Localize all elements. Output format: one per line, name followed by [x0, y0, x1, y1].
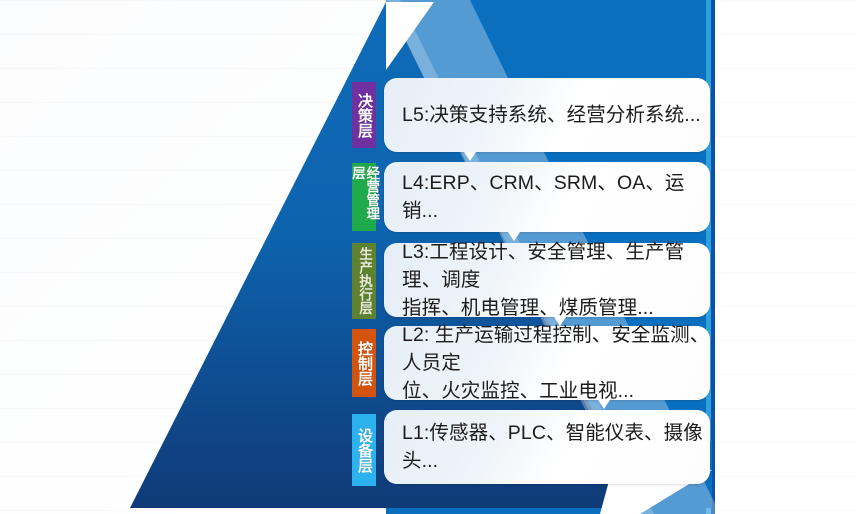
layer-row-l2[interactable]: 控制层	[352, 329, 376, 397]
layer-tab-l5[interactable]: 决策层	[352, 82, 376, 148]
layer-tab-label-l1: 设备层	[356, 428, 372, 473]
layer-card-text-l2: L2: 生产运输过程控制、安全监测、人员定 位、火灾监控、工业电视...	[402, 321, 710, 406]
flow-arrow-l2-l1	[598, 400, 610, 409]
layer-card-l5[interactable]: L5:决策支持系统、经营分析系统...	[384, 78, 710, 152]
layer-tab-l2[interactable]: 控制层	[352, 329, 376, 397]
layer-card-text-l1: L1:传感器、PLC、智能仪表、摄像头...	[402, 419, 710, 476]
layer-card-text-l5: L5:决策支持系统、经营分析系统...	[402, 101, 701, 129]
layer-card-l3[interactable]: L3:工程设计、安全管理、生产管理、调度 指挥、机电管理、煤质管理...	[384, 243, 710, 317]
layer-row-l3[interactable]: 生产执行层	[352, 243, 376, 319]
layer-card-text-l3: L3:工程设计、安全管理、生产管理、调度 指挥、机电管理、煤质管理...	[402, 238, 710, 323]
layer-tab-l3[interactable]: 生产执行层	[352, 243, 376, 319]
layer-row-l1[interactable]: 设备层	[352, 414, 376, 486]
layer-tab-l4[interactable]: 经营管理层	[352, 163, 376, 231]
layer-tab-label-l4: 经营管理层	[350, 166, 379, 228]
layer-card-l4[interactable]: L4:ERP、CRM、SRM、OA、运销...	[384, 162, 710, 232]
layer-row-l4[interactable]: 经营管理层	[352, 163, 376, 231]
diagram-canvas: 决策层 L5:决策支持系统、经营分析系统... 经营管理层 L4:ERP、CRM…	[0, 0, 856, 514]
layer-row-l5[interactable]: 决策层	[352, 82, 376, 148]
layer-card-l1[interactable]: L1:传感器、PLC、智能仪表、摄像头...	[384, 410, 710, 484]
layer-card-l2[interactable]: L2: 生产运输过程控制、安全监测、人员定 位、火灾监控、工业电视...	[384, 326, 710, 400]
layer-tab-l1[interactable]: 设备层	[352, 414, 376, 486]
flow-arrow-l5-l4	[464, 152, 476, 161]
layer-tab-label-l2: 控制层	[356, 341, 372, 386]
layer-tab-label-l5: 决策层	[356, 93, 372, 138]
layer-card-text-l4: L4:ERP、CRM、SRM、OA、运销...	[402, 169, 710, 226]
layer-tab-label-l3: 生产执行层	[357, 247, 371, 315]
